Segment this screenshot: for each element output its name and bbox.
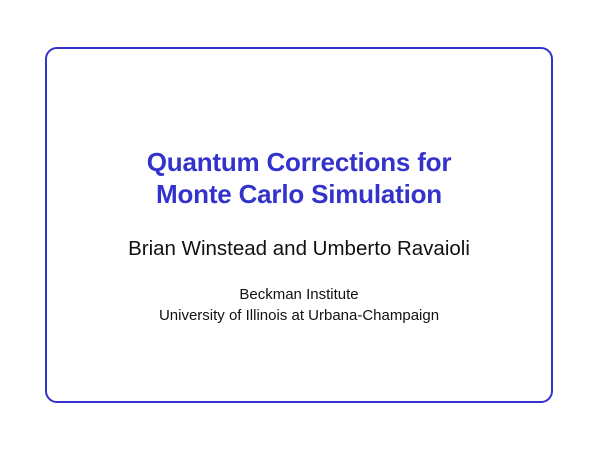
title-line-2: Monte Carlo Simulation (147, 179, 452, 211)
title-line-1: Quantum Corrections for (147, 147, 452, 179)
slide-authors: Brian Winstead and Umberto Ravaioli (128, 237, 470, 262)
slide-canvas: Quantum Corrections for Monte Carlo Simu… (0, 0, 600, 464)
slide-title: Quantum Corrections for Monte Carlo Simu… (147, 147, 452, 211)
slide-border-frame: Quantum Corrections for Monte Carlo Simu… (45, 47, 553, 403)
affiliation-line-1: Beckman Institute (159, 284, 439, 305)
slide-content: Quantum Corrections for Monte Carlo Simu… (47, 49, 551, 401)
slide-affiliation: Beckman Institute University of Illinois… (159, 284, 439, 327)
affiliation-line-2: University of Illinois at Urbana-Champai… (159, 305, 439, 326)
